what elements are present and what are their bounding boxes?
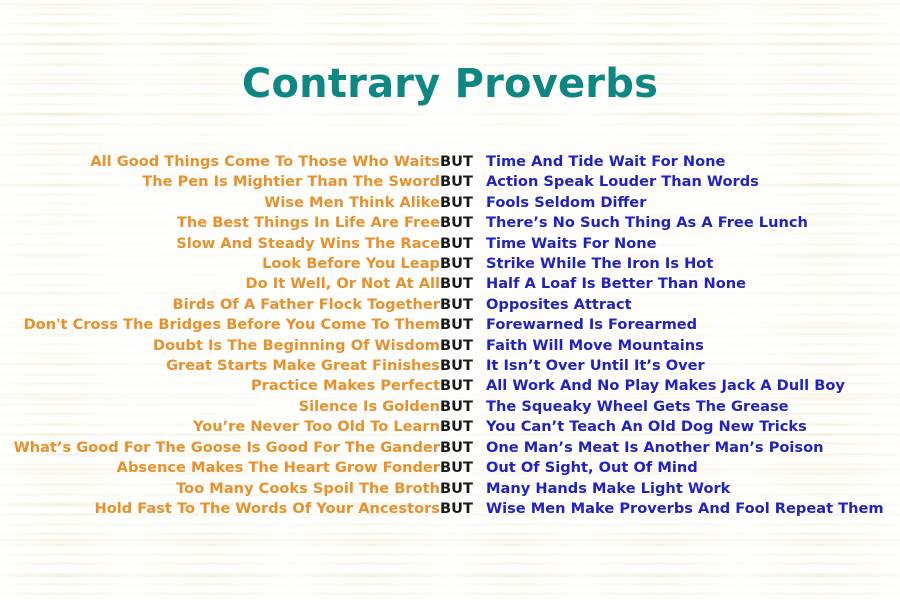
proverb-row: Silence Is GoldenBUTThe Squeaky Wheel Ge… — [0, 397, 900, 417]
proverb-right-text: You Can’t Teach An Old Dog New Tricks — [486, 417, 900, 437]
proverb-conjunction: BUT — [440, 254, 486, 274]
proverb-row: Do It Well, Or Not At AllBUTHalf A Loaf … — [0, 274, 900, 294]
proverb-row: Too Many Cooks Spoil The BrothBUTMany Ha… — [0, 479, 900, 499]
proverb-right-text: Half A Loaf Is Better Than None — [486, 274, 900, 294]
proverb-right-text: All Work And No Play Makes Jack A Dull B… — [486, 376, 900, 396]
proverb-left-text: Hold Fast To The Words Of Your Ancestors — [0, 499, 440, 519]
proverb-row: Hold Fast To The Words Of Your Ancestors… — [0, 499, 900, 519]
page-title: Contrary Proverbs — [0, 62, 900, 106]
proverb-right-text: Out Of Sight, Out Of Mind — [486, 458, 900, 478]
proverb-left-text: Don't Cross The Bridges Before You Come … — [0, 315, 440, 335]
proverb-conjunction: BUT — [440, 295, 486, 315]
proverb-row: You’re Never Too Old To LearnBUTYou Can’… — [0, 417, 900, 437]
proverb-right-text: Fools Seldom Differ — [486, 193, 900, 213]
proverb-row: The Best Things In Life Are FreeBUTThere… — [0, 213, 900, 233]
proverb-row: Look Before You LeapBUTStrike While The … — [0, 254, 900, 274]
proverb-left-text: You’re Never Too Old To Learn — [0, 417, 440, 437]
proverb-right-text: The Squeaky Wheel Gets The Grease — [486, 397, 900, 417]
proverb-left-text: Doubt Is The Beginning Of Wisdom — [0, 336, 440, 356]
proverb-row: Practice Makes PerfectBUTAll Work And No… — [0, 376, 900, 396]
proverb-right-text: It Isn’t Over Until It’s Over — [486, 356, 900, 376]
proverb-right-text: Strike While The Iron Is Hot — [486, 254, 900, 274]
proverb-left-text: What’s Good For The Goose Is Good For Th… — [0, 438, 440, 458]
proverb-left-text: Slow And Steady Wins The Race — [0, 234, 440, 254]
proverb-conjunction: BUT — [440, 479, 486, 499]
proverb-conjunction: BUT — [440, 213, 486, 233]
proverb-left-text: All Good Things Come To Those Who Waits — [0, 152, 440, 172]
proverb-conjunction: BUT — [440, 417, 486, 437]
proverb-conjunction: BUT — [440, 458, 486, 478]
proverb-table-body: All Good Things Come To Those Who WaitsB… — [0, 152, 900, 519]
proverb-conjunction: BUT — [440, 376, 486, 396]
proverb-row: Great Starts Make Great FinishesBUTIt Is… — [0, 356, 900, 376]
proverb-conjunction: BUT — [440, 315, 486, 335]
proverb-conjunction: BUT — [440, 356, 486, 376]
proverb-row: Don't Cross The Bridges Before You Come … — [0, 315, 900, 335]
proverb-row: Wise Men Think AlikeBUTFools Seldom Diff… — [0, 193, 900, 213]
slide-canvas: Contrary Proverbs All Good Things Come T… — [0, 0, 900, 600]
proverb-conjunction: BUT — [440, 438, 486, 458]
proverb-right-text: Forewarned Is Forearmed — [486, 315, 900, 335]
proverb-conjunction: BUT — [440, 397, 486, 417]
proverb-conjunction: BUT — [440, 336, 486, 356]
proverb-conjunction: BUT — [440, 499, 486, 519]
proverb-conjunction: BUT — [440, 152, 486, 172]
proverb-right-text: Wise Men Make Proverbs And Fool Repeat T… — [486, 499, 900, 519]
proverb-right-text: There’s No Such Thing As A Free Lunch — [486, 213, 900, 233]
proverb-row: The Pen Is Mightier Than The SwordBUTAct… — [0, 172, 900, 192]
proverb-right-text: Opposites Attract — [486, 295, 900, 315]
proverb-row: Birds Of A Father Flock TogetherBUTOppos… — [0, 295, 900, 315]
proverb-left-text: The Best Things In Life Are Free — [0, 213, 440, 233]
proverb-left-text: Birds Of A Father Flock Together — [0, 295, 440, 315]
proverb-left-text: Absence Makes The Heart Grow Fonder — [0, 458, 440, 478]
proverb-left-text: Wise Men Think Alike — [0, 193, 440, 213]
proverb-right-text: Time Waits For None — [486, 234, 900, 254]
proverb-left-text: The Pen Is Mightier Than The Sword — [0, 172, 440, 192]
proverb-right-text: Action Speak Louder Than Words — [486, 172, 900, 192]
proverb-table: All Good Things Come To Those Who WaitsB… — [0, 152, 900, 519]
proverb-right-text: One Man’s Meat Is Another Man’s Poison — [486, 438, 900, 458]
proverb-left-text: Silence Is Golden — [0, 397, 440, 417]
proverb-conjunction: BUT — [440, 234, 486, 254]
proverb-left-text: Do It Well, Or Not At All — [0, 274, 440, 294]
proverb-conjunction: BUT — [440, 193, 486, 213]
proverb-right-text: Time And Tide Wait For None — [486, 152, 900, 172]
proverb-left-text: Too Many Cooks Spoil The Broth — [0, 479, 440, 499]
proverb-row: Slow And Steady Wins The RaceBUTTime Wai… — [0, 234, 900, 254]
proverb-conjunction: BUT — [440, 274, 486, 294]
proverb-conjunction: BUT — [440, 172, 486, 192]
proverb-left-text: Practice Makes Perfect — [0, 376, 440, 396]
proverb-left-text: Great Starts Make Great Finishes — [0, 356, 440, 376]
proverb-right-text: Many Hands Make Light Work — [486, 479, 900, 499]
proverb-right-text: Faith Will Move Mountains — [486, 336, 900, 356]
proverb-row: Absence Makes The Heart Grow FonderBUTOu… — [0, 458, 900, 478]
proverb-row: All Good Things Come To Those Who WaitsB… — [0, 152, 900, 172]
proverb-row: What’s Good For The Goose Is Good For Th… — [0, 438, 900, 458]
proverb-left-text: Look Before You Leap — [0, 254, 440, 274]
proverb-row: Doubt Is The Beginning Of WisdomBUTFaith… — [0, 336, 900, 356]
